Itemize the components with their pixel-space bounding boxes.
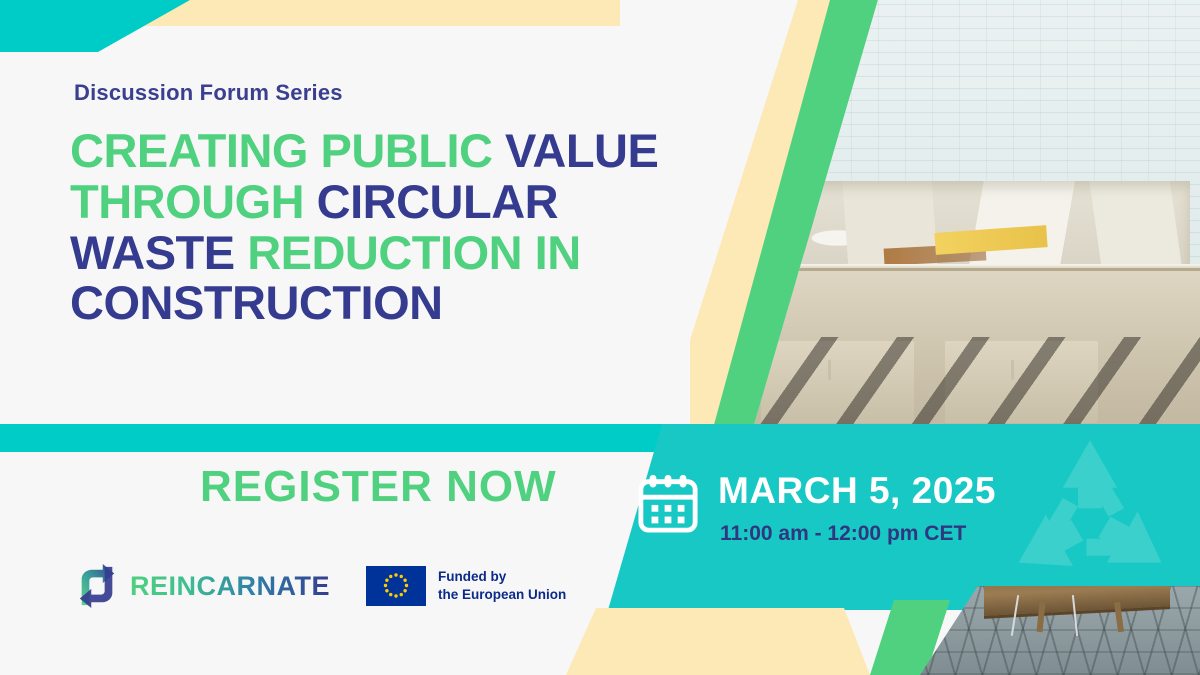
- calendar-icon: [637, 472, 699, 534]
- headline-line1-navy: VALUE: [505, 124, 658, 177]
- register-now-cta[interactable]: REGISTER NOW: [200, 462, 557, 512]
- event-banner: Discussion Forum Series CREATING PUBLIC …: [0, 0, 1200, 675]
- headline-line2-green: THROUGH: [70, 175, 317, 228]
- bottom-cream-shape: [540, 608, 900, 675]
- headline-panel: Discussion Forum Series CREATING PUBLIC …: [0, 0, 760, 424]
- headline-line3-navy: WASTE: [70, 226, 247, 279]
- event-time: 11:00 am - 12:00 pm CET: [720, 522, 966, 546]
- headline-line3-green: REDUCTION IN: [247, 226, 580, 279]
- headline-line2-navy: CIRCULAR: [317, 175, 558, 228]
- headline-line1-green: CREATING PUBLIC: [70, 124, 505, 177]
- reincarnate-logo[interactable]: REINCARNATE: [74, 563, 330, 609]
- event-date: MARCH 5, 2025: [718, 470, 996, 512]
- recycle-arrows-icon: [74, 563, 120, 609]
- eu-funding-logo: Funded by the European Union: [366, 566, 566, 606]
- eu-funding-text: Funded by the European Union: [438, 568, 566, 604]
- page-title: CREATING PUBLIC VALUE THROUGH CIRCULAR W…: [70, 126, 730, 329]
- reincarnate-wordmark: REINCARNATE: [130, 571, 330, 602]
- recycle-symbol-icon: [1000, 430, 1180, 600]
- kicker-text: Discussion Forum Series: [74, 80, 343, 106]
- headline-line4-navy: CONSTRUCTION: [70, 276, 443, 329]
- eu-flag-icon: [366, 566, 426, 606]
